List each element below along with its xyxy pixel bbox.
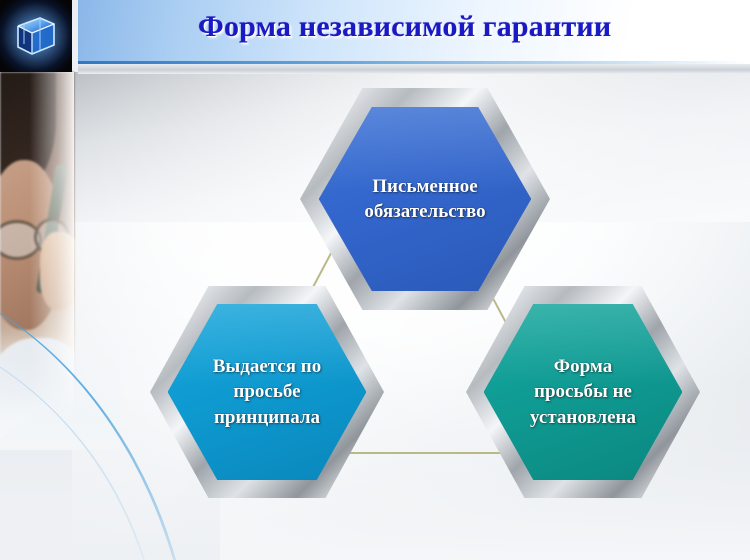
hexagon-node-issued-on-request[interactable]: Выдается по просьбе принципала (150, 286, 384, 498)
hexagon-label-line1: Форма (554, 356, 612, 377)
hexagon-label: Форма просьбы не установлена (520, 354, 646, 429)
slide-canvas: Форма независимой гарантии Письменное об… (0, 0, 750, 560)
hexagon-label-line2: просьбе (233, 381, 300, 402)
logo-container (0, 0, 72, 72)
hexagon-label-line1: Письменное (372, 176, 477, 197)
hexagon-label-line2: просьбы не (534, 381, 632, 402)
title-bar: Форма независимой гарантии (78, 0, 750, 64)
hexagon-label: Выдается по просьбе принципала (203, 354, 332, 429)
hexagon-node-written-obligation[interactable]: Письменное обязательство (300, 88, 550, 310)
hexagon-label-line3: установлена (530, 407, 636, 428)
hexagon-label-line2: обязательство (364, 201, 485, 222)
hexagon-label-line3: принципала (214, 407, 320, 428)
hexagon-label-line1: Выдается по (213, 356, 322, 377)
hexagon-node-request-form-not-set[interactable]: Форма просьбы не установлена (466, 286, 700, 498)
page-title: Форма независимой гарантии (198, 10, 750, 44)
glowing-cube-icon (14, 14, 58, 58)
hexagon-label: Письменное обязательство (354, 174, 495, 224)
title-underline (78, 64, 750, 74)
